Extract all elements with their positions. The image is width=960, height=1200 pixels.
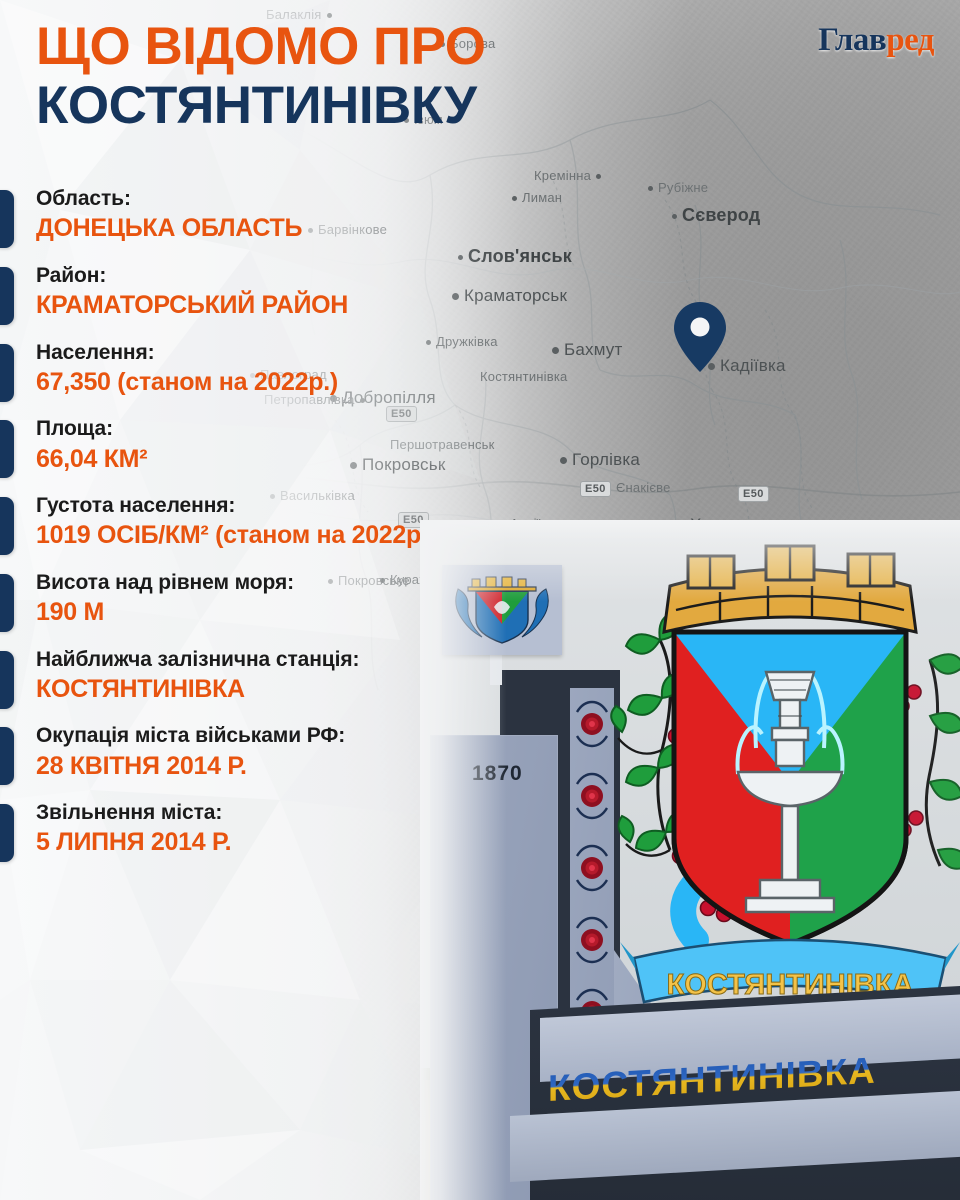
fact-bullet-marker — [0, 190, 14, 248]
fact-bullet-marker — [0, 574, 14, 632]
fact-bullet-marker — [0, 267, 14, 325]
fact-bullet-marker — [0, 651, 14, 709]
brand-logo[interactable]: Главред — [818, 22, 934, 59]
map-city-label-text: Кадіївка — [720, 356, 786, 375]
monument-emblem-plaque — [442, 565, 562, 655]
mural-crown — [664, 546, 916, 632]
map-road-badge: E50 — [738, 486, 769, 502]
fact-item: Район:КРАМАТОРСЬКИЙ РАЙОН — [0, 263, 620, 321]
small-coat-of-arms-icon — [450, 573, 554, 647]
fact-label: Густота населення: — [36, 493, 620, 519]
fact-label: Область: — [36, 186, 620, 212]
infographic-canvas: БалакліяБороваІзюмКреміннаРубіжнеЛиманСє… — [0, 0, 960, 1200]
fact-label: Населення: — [36, 340, 620, 366]
title-line-1: ЩО ВІДОМО ПРО — [36, 20, 636, 73]
city-entrance-monument-photo: 1870 — [420, 520, 960, 1200]
map-city-label-text: Сєверод — [682, 205, 760, 225]
fact-bullet-marker — [0, 727, 14, 785]
shield — [674, 632, 906, 944]
fact-value: ДОНЕЦЬКА ОБЛАСТЬ — [36, 213, 620, 244]
fact-bullet-marker — [0, 344, 14, 402]
fact-value: КРАМАТОРСЬКИЙ РАЙОН — [36, 290, 620, 321]
fact-label: Район: — [36, 263, 620, 289]
fact-value: 66,04 КМ² — [36, 444, 620, 475]
fact-item: Населення:67,350 (станом на 2022р.) — [0, 340, 620, 398]
fact-bullet-marker — [0, 497, 14, 555]
fact-bullet-marker — [0, 804, 14, 862]
map-city-label-text: Рубіжне — [658, 180, 708, 195]
plaque-post — [490, 653, 502, 685]
map-location-pin[interactable] — [672, 300, 728, 379]
coat-of-arms: КОСТЯНТИНІВКА — [600, 520, 960, 1030]
logo-text-primary: Глав — [818, 22, 886, 58]
fact-item: Область:ДОНЕЦЬКА ОБЛАСТЬ — [0, 186, 620, 244]
map-city-label-text: Єнакієве — [616, 480, 671, 495]
fact-value: 67,350 (станом на 2022р.) — [36, 367, 620, 398]
monument-founding-year: 1870 — [472, 762, 523, 786]
map-city-label-text: Кремінна — [534, 168, 591, 183]
fact-bullet-marker — [0, 420, 14, 478]
map-city-label: Рубіжне — [648, 180, 708, 195]
fact-item: Площа:66,04 КМ² — [0, 416, 620, 474]
map-city-label: Сєверод — [672, 205, 760, 226]
map-city-label: Кремінна — [534, 168, 601, 183]
title-line-2: КОСТЯНТИНІВКУ — [36, 79, 636, 132]
page-title: ЩО ВІДОМО ПРО КОСТЯНТИНІВКУ — [36, 20, 636, 132]
fact-label: Площа: — [36, 416, 620, 442]
logo-text-accent: ред — [886, 22, 934, 58]
